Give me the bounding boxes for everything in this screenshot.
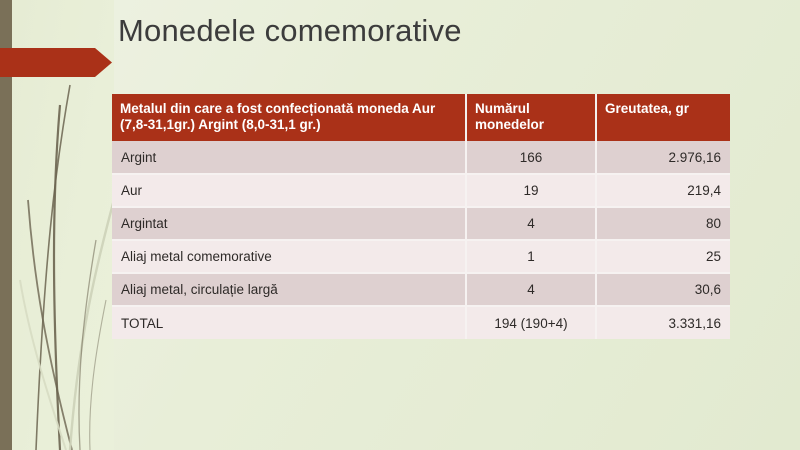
table-row: Aliaj metal comemorative 1 25 (112, 240, 730, 273)
right-arrow-decoration (0, 48, 112, 77)
coins-table-container: Metalul din care a fost confecționată mo… (112, 94, 730, 339)
cell-metal: Aliaj metal comemorative (112, 240, 466, 273)
cell-weight: 30,6 (596, 273, 730, 306)
table-row: Aliaj metal, circulație largă 4 30,6 (112, 273, 730, 306)
page-title: Monedele comemorative (118, 13, 462, 49)
cell-weight: 2.976,16 (596, 141, 730, 174)
column-header-metal: Metalul din care a fost confecționată mo… (112, 94, 466, 141)
cell-count: 166 (466, 141, 596, 174)
table-header: Metalul din care a fost confecționată mo… (112, 94, 730, 141)
cell-weight: 3.331,16 (596, 306, 730, 339)
cell-metal: Argintat (112, 207, 466, 240)
cell-metal: Argint (112, 141, 466, 174)
table-row-total: TOTAL 194 (190+4) 3.331,16 (112, 306, 730, 339)
cell-weight: 80 (596, 207, 730, 240)
coins-table: Metalul din care a fost confecționată mo… (112, 94, 730, 339)
cell-metal: Aur (112, 174, 466, 207)
table-row: Argint 166 2.976,16 (112, 141, 730, 174)
cell-count: 194 (190+4) (466, 306, 596, 339)
table-row: Argintat 4 80 (112, 207, 730, 240)
table-body: Argint 166 2.976,16 Aur 19 219,4 Arginta… (112, 141, 730, 339)
slide-canvas: Monedele comemorative Metalul din care a… (0, 0, 800, 450)
cell-count: 4 (466, 273, 596, 306)
table-header-row: Metalul din care a fost confecționată mo… (112, 94, 730, 141)
cell-metal: TOTAL (112, 306, 466, 339)
cell-weight: 219,4 (596, 174, 730, 207)
column-header-count: Numărul monedelor (466, 94, 596, 141)
cell-count: 4 (466, 207, 596, 240)
cell-metal: Aliaj metal, circulație largă (112, 273, 466, 306)
cell-count: 1 (466, 240, 596, 273)
cell-count: 19 (466, 174, 596, 207)
table-row: Aur 19 219,4 (112, 174, 730, 207)
cell-weight: 25 (596, 240, 730, 273)
column-header-weight: Greutatea, gr (596, 94, 730, 141)
